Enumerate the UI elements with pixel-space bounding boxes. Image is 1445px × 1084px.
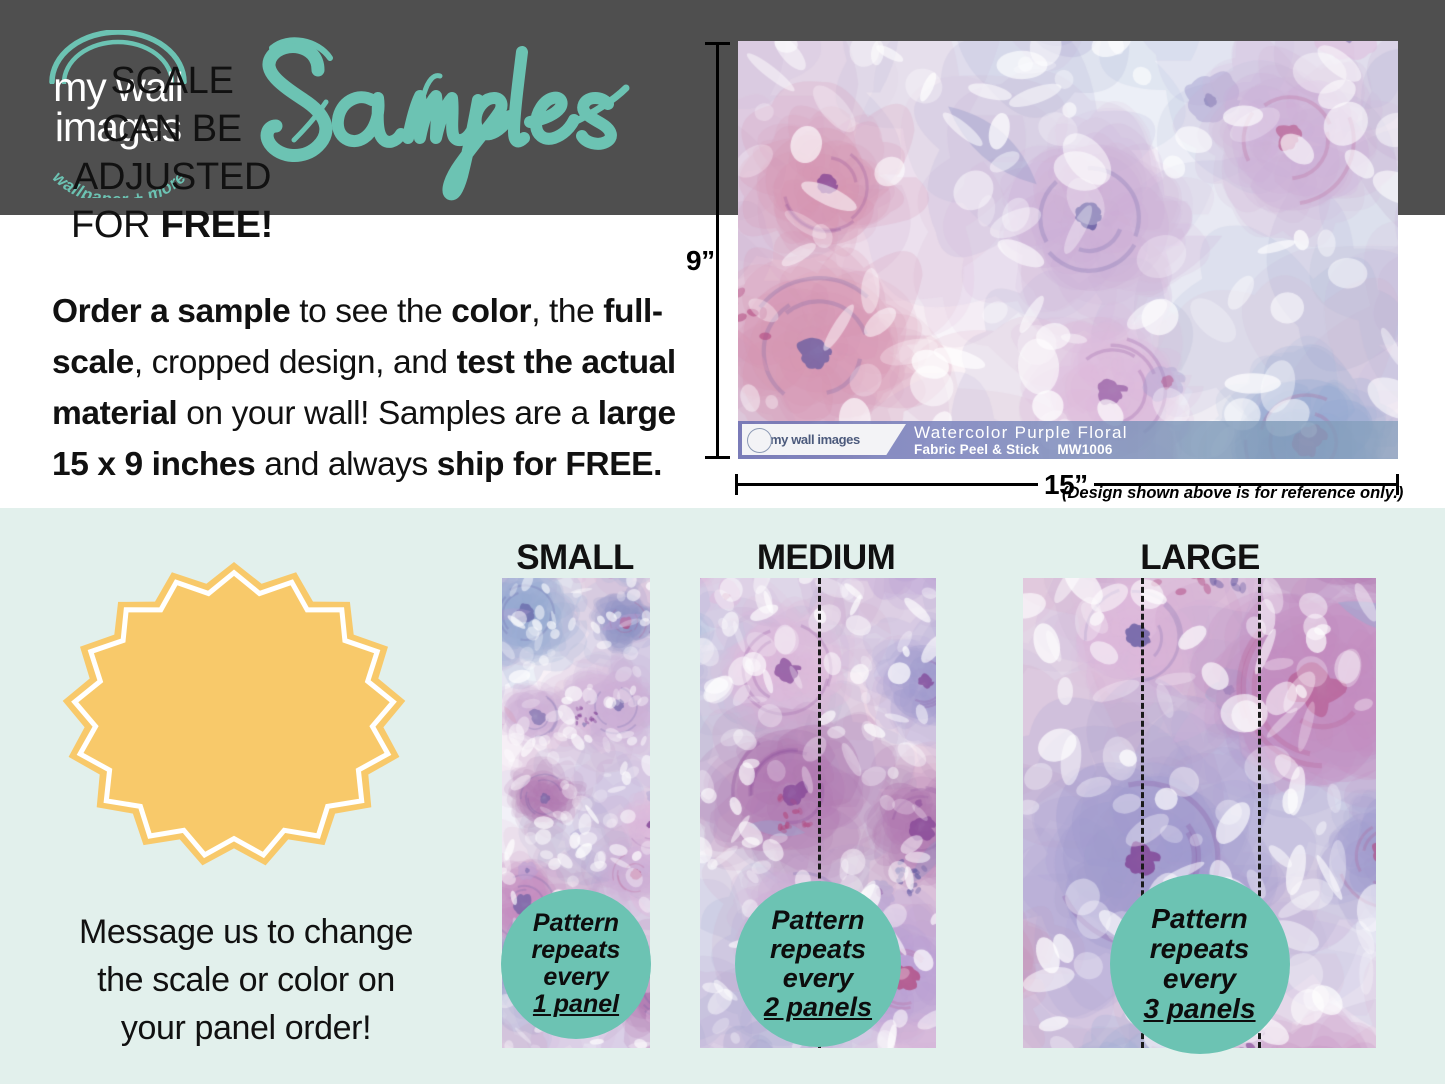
watercolor-floral-artwork	[738, 41, 1398, 459]
swatch-label-logo: my wall images	[742, 424, 906, 455]
starburst-shape	[63, 562, 406, 865]
swatch-label-logo-text: my wall images	[770, 432, 860, 447]
measurement-cap-left	[735, 474, 738, 495]
swatch-product-label: my wall images Watercolor Purple Floral …	[738, 421, 1398, 459]
repeat-line-3: every	[783, 964, 854, 993]
measurement-cap-top	[705, 42, 730, 45]
message-line-2: the scale or color on	[36, 956, 456, 1004]
swatch-sku: MW1006	[1057, 442, 1112, 457]
pattern-repeat-badge-medium: Patternrepeatsevery2 panels	[735, 881, 901, 1047]
message-text: Message us to change the scale or color …	[36, 908, 456, 1052]
repeat-line-3: every	[543, 964, 608, 991]
message-line-3: your panel order!	[36, 1004, 456, 1052]
repeat-line-3: every	[1163, 964, 1236, 994]
repeat-line-1: Pattern	[1151, 904, 1247, 934]
repeat-line-2: repeats	[770, 935, 866, 964]
scale-heading-medium: MEDIUM	[676, 538, 976, 578]
repeat-line-4: 1 panel	[533, 991, 619, 1018]
circle-icon	[747, 428, 772, 453]
repeat-line-1: Pattern	[533, 910, 619, 937]
badge-line-1: SCALE	[110, 57, 233, 105]
intro-paragraph: Order a sample to see the color, the ful…	[52, 286, 682, 490]
swatch-material-line: Fabric Peel & Stick MW1006	[914, 442, 1113, 457]
height-label: 9”	[686, 245, 715, 277]
height-measurement-line	[716, 42, 719, 459]
swatch-product-name: Watercolor Purple Floral	[914, 423, 1128, 443]
sample-swatch-image: my wall images Watercolor Purple Floral …	[738, 41, 1398, 459]
repeat-line-2: repeats	[1150, 934, 1250, 964]
badge-line-2: CAN BE	[102, 105, 242, 153]
message-line-1: Message us to change	[36, 908, 456, 956]
badge-line-4: FOR FREE!	[71, 201, 273, 249]
repeat-line-4: 2 panels	[764, 993, 872, 1022]
samples-infographic: my wall images wallpaper + more	[0, 0, 1445, 1084]
scale-adjust-badge	[62, 562, 406, 868]
pattern-repeat-badge-small: Patternrepeatsevery1 panel	[501, 889, 651, 1039]
repeat-line-2: repeats	[532, 937, 621, 964]
repeat-line-1: Pattern	[771, 906, 864, 935]
badge-line-3: ADJUSTED	[73, 153, 271, 201]
scale-adjust-badge-text: SCALE CAN BE ADJUSTED FOR FREE!	[0, 0, 344, 306]
repeat-line-4: 3 panels	[1143, 994, 1255, 1024]
reference-note: (Design shown above is for reference onl…	[1062, 484, 1403, 503]
pattern-repeat-badge-large: Patternrepeatsevery3 panels	[1110, 874, 1290, 1054]
measurement-cap-bottom	[705, 456, 730, 459]
swatch-material: Fabric Peel & Stick	[914, 442, 1039, 457]
scale-heading-large: LARGE	[1050, 538, 1350, 578]
